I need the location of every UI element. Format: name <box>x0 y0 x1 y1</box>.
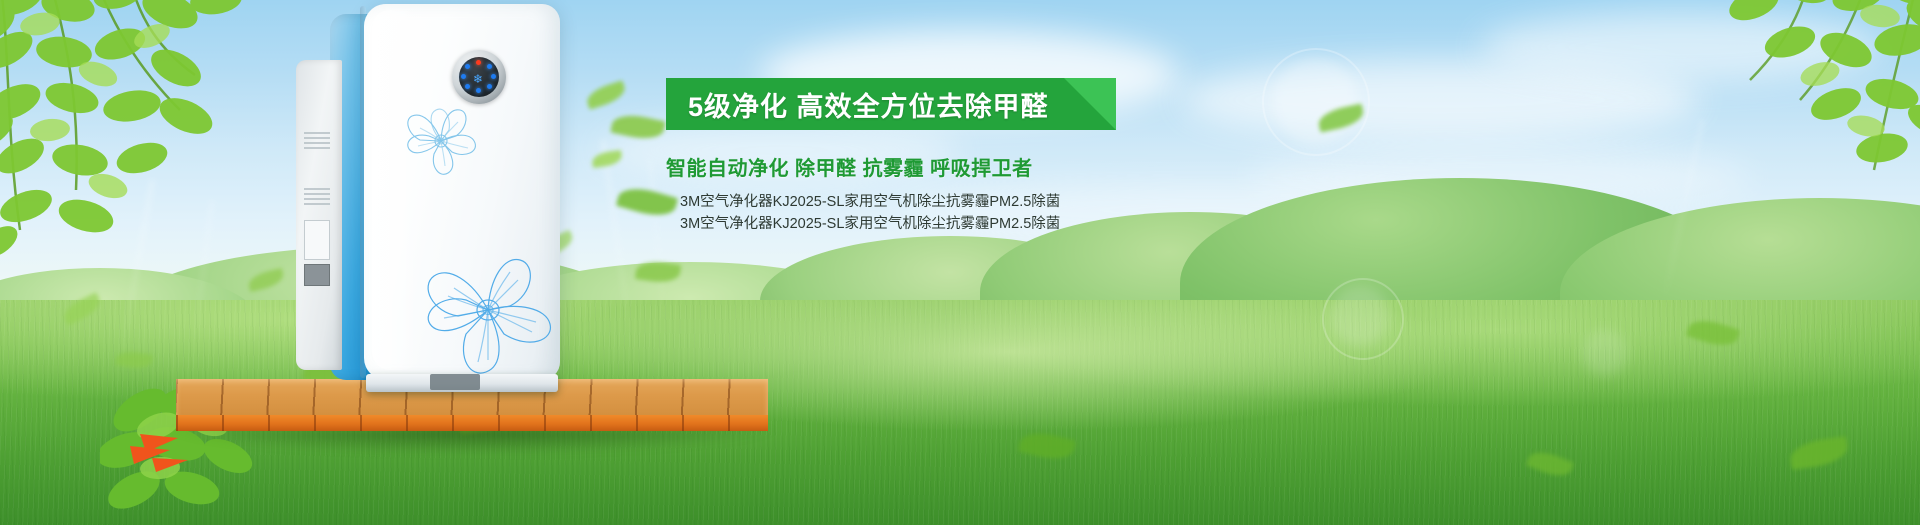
flower-svg <box>398 98 484 184</box>
foliage-top-left <box>0 0 310 270</box>
vent-grille <box>304 188 330 208</box>
headline-ribbon: 5级净化 高效全方位去除甲醛 <box>666 78 1116 130</box>
indicator-led <box>461 74 466 79</box>
product-description: 3M空气净化器KJ2025-SL家用空气机除尘抗雾霾PM2.5除菌 3M空气净化… <box>666 191 1386 235</box>
description-line-2: 3M空气净化器KJ2025-SL家用空气机除尘抗雾霾PM2.5除菌 <box>680 213 1386 235</box>
ribbon-corner-accent <box>1064 78 1116 130</box>
rating-label <box>304 264 330 286</box>
air-purifier-product: ❄ <box>300 0 560 400</box>
banner-text-block: 5级净化 高效全方位去除甲醛 智能自动净化 除甲醛 抗雾霾 呼吸捍卫者 3M空气… <box>666 78 1386 235</box>
flower-svg <box>418 236 558 386</box>
bokeh-circle <box>1322 278 1404 360</box>
power-led <box>476 60 481 65</box>
indicator-led <box>476 88 481 93</box>
snowflake-icon: ❄ <box>473 73 485 85</box>
leaf-branch-svg <box>1630 0 1920 220</box>
vent-grille <box>304 132 330 152</box>
flower-graphic-bottom <box>418 236 558 391</box>
dial-display: ❄ <box>459 57 499 97</box>
description-line-1: 3M空气净化器KJ2025-SL家用空气机除尘抗雾霾PM2.5除菌 <box>680 191 1386 213</box>
warning-label <box>304 220 330 260</box>
purifier-gloss-highlight <box>372 10 420 370</box>
wood-deck-edge <box>176 415 768 431</box>
indicator-led <box>487 64 492 69</box>
leaf-branch-svg <box>0 0 310 270</box>
control-dial[interactable]: ❄ <box>452 50 506 104</box>
purifier-side-panel <box>296 60 342 370</box>
purifier-base-shadow <box>430 374 480 390</box>
foliage-top-right <box>1630 0 1920 220</box>
product-banner: ❄ 5级净化 高效全方位去除甲醛 智能自动净化 除甲醛 抗雾霾 呼吸捍卫者 3M… <box>0 0 1920 525</box>
banner-subtitle: 智能自动净化 除甲醛 抗雾霾 呼吸捍卫者 <box>666 152 1386 181</box>
flower-graphic-top <box>398 98 484 189</box>
indicator-led <box>491 74 496 79</box>
deck-shadow <box>170 428 776 454</box>
page-title: 5级净化 高效全方位去除甲醛 <box>666 85 1049 124</box>
indicator-led <box>487 84 492 89</box>
indicator-led <box>465 64 470 69</box>
indicator-led <box>465 84 470 89</box>
bokeh-circle <box>1582 330 1628 376</box>
